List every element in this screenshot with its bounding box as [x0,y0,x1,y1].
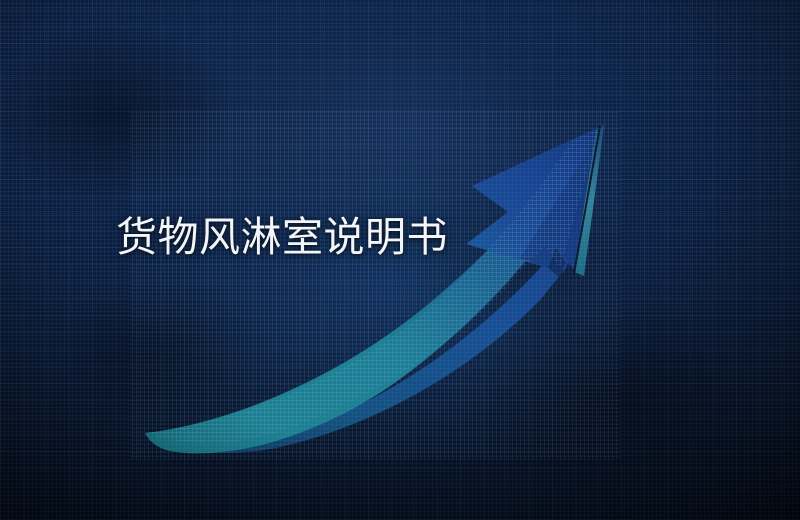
banner-root: 货物风淋室说明书 [0,0,800,520]
page-title: 货物风淋室说明书 [116,212,448,262]
arrow-mesh-overlay-wide [130,110,620,460]
